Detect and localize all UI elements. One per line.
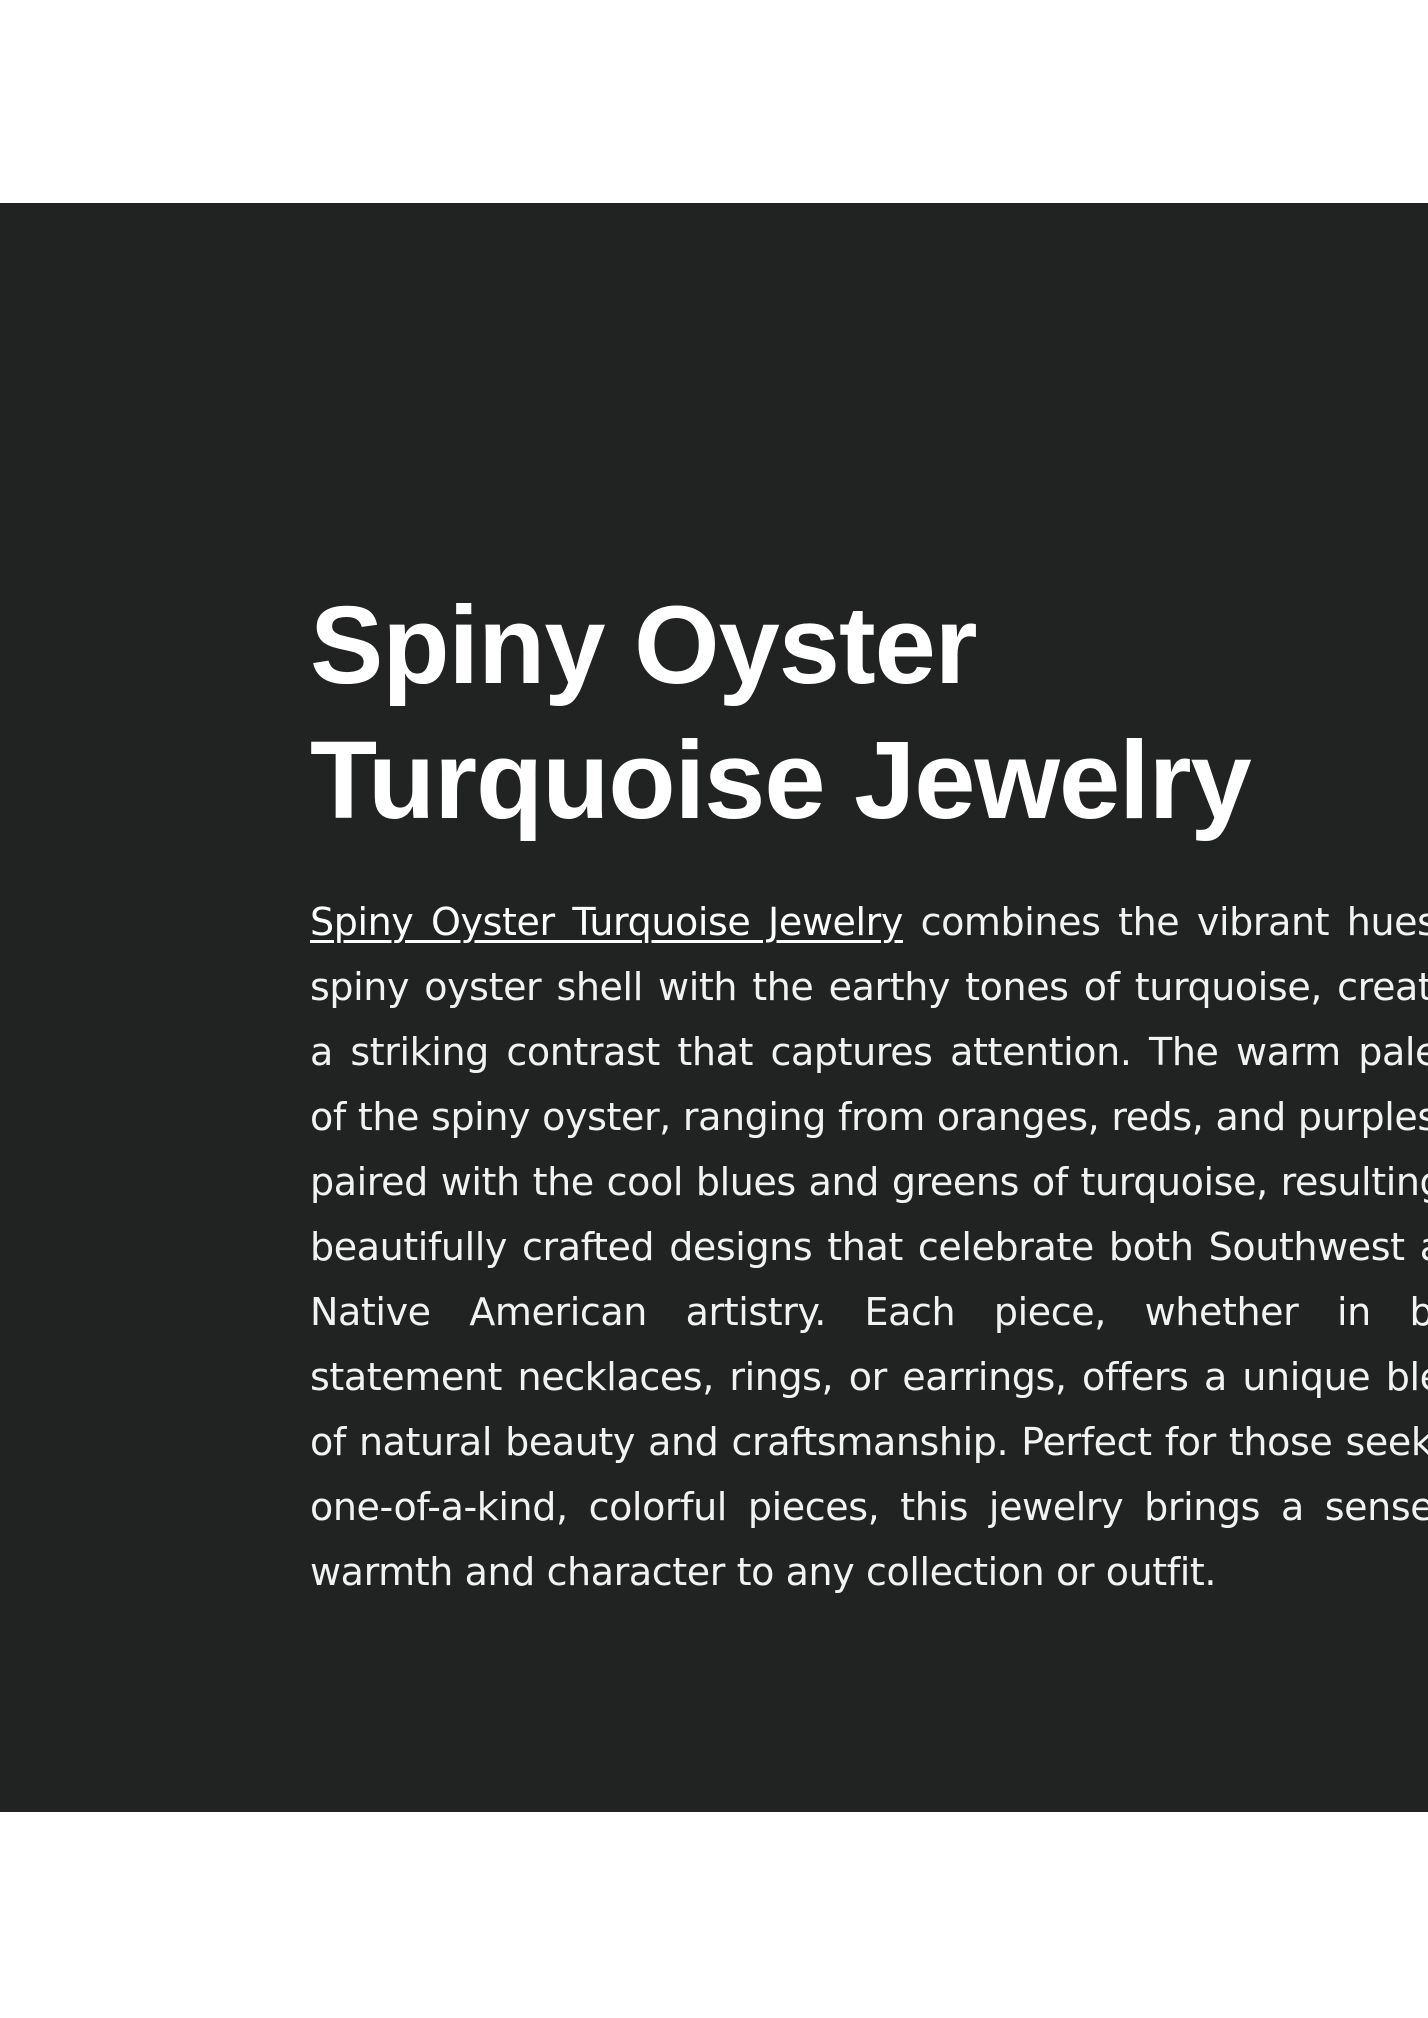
spiny-oyster-turquoise-jewelry-link[interactable]: Spiny Oyster Turquoise Jewelry — [310, 900, 903, 944]
article-content: Spiny Oyster Turquoise Jewelry Spiny Oys… — [310, 578, 1428, 1605]
article-paragraph-text: combines the vibrant hues of spiny oyste… — [310, 900, 1428, 1594]
article-paragraph: Spiny Oyster Turquoise Jewelry combines … — [310, 890, 1428, 1605]
article-panel: Spiny Oyster Turquoise Jewelry Spiny Oys… — [0, 203, 1428, 1812]
page-title: Spiny Oyster Turquoise Jewelry — [310, 578, 1428, 848]
